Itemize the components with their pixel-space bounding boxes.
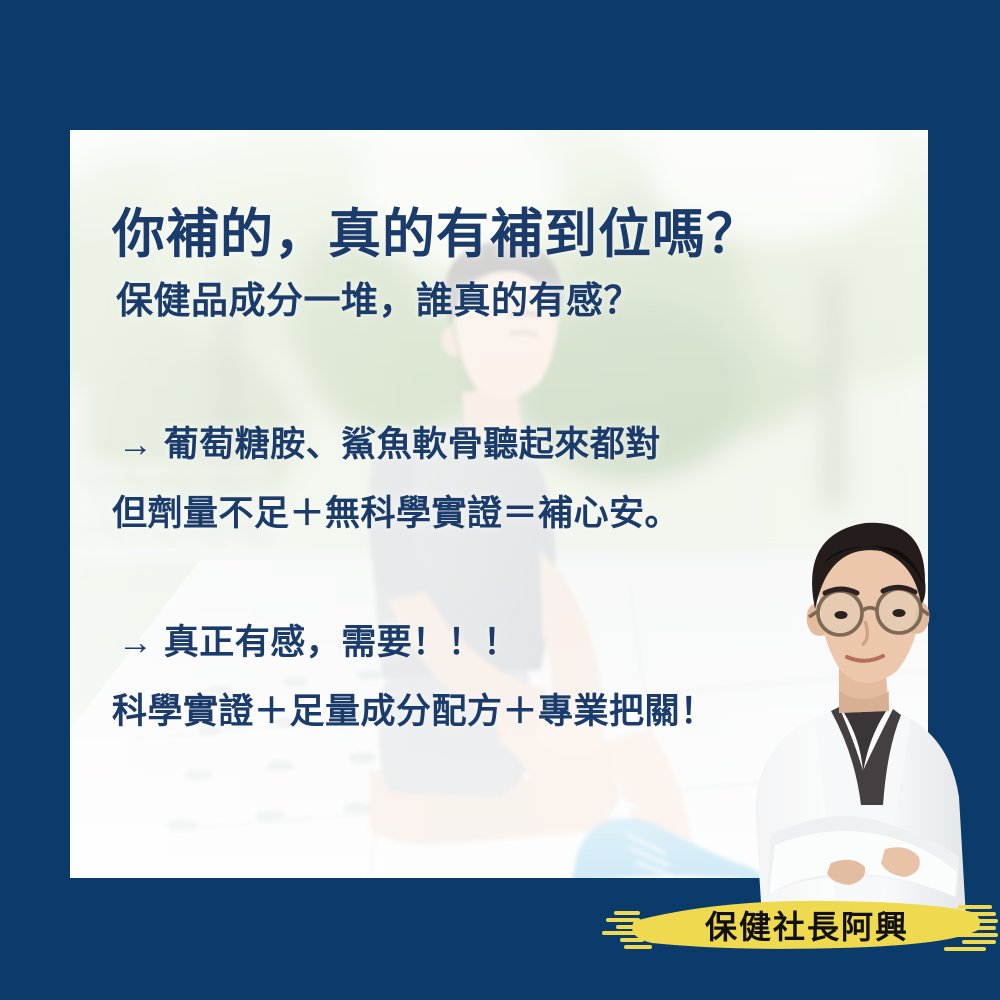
poster-canvas: 你補的，真的有補到位嗎？ 保健品成分一堆，誰真的有感？ → 葡萄糖胺、鯊魚軟骨聽… — [0, 0, 1000, 1000]
host-portrait-illustration — [735, 505, 1000, 935]
brand-banner: 保健社長阿興 — [600, 885, 1000, 965]
host-portrait — [735, 505, 1000, 935]
brand-name: 保健社長阿興 — [600, 885, 1000, 965]
